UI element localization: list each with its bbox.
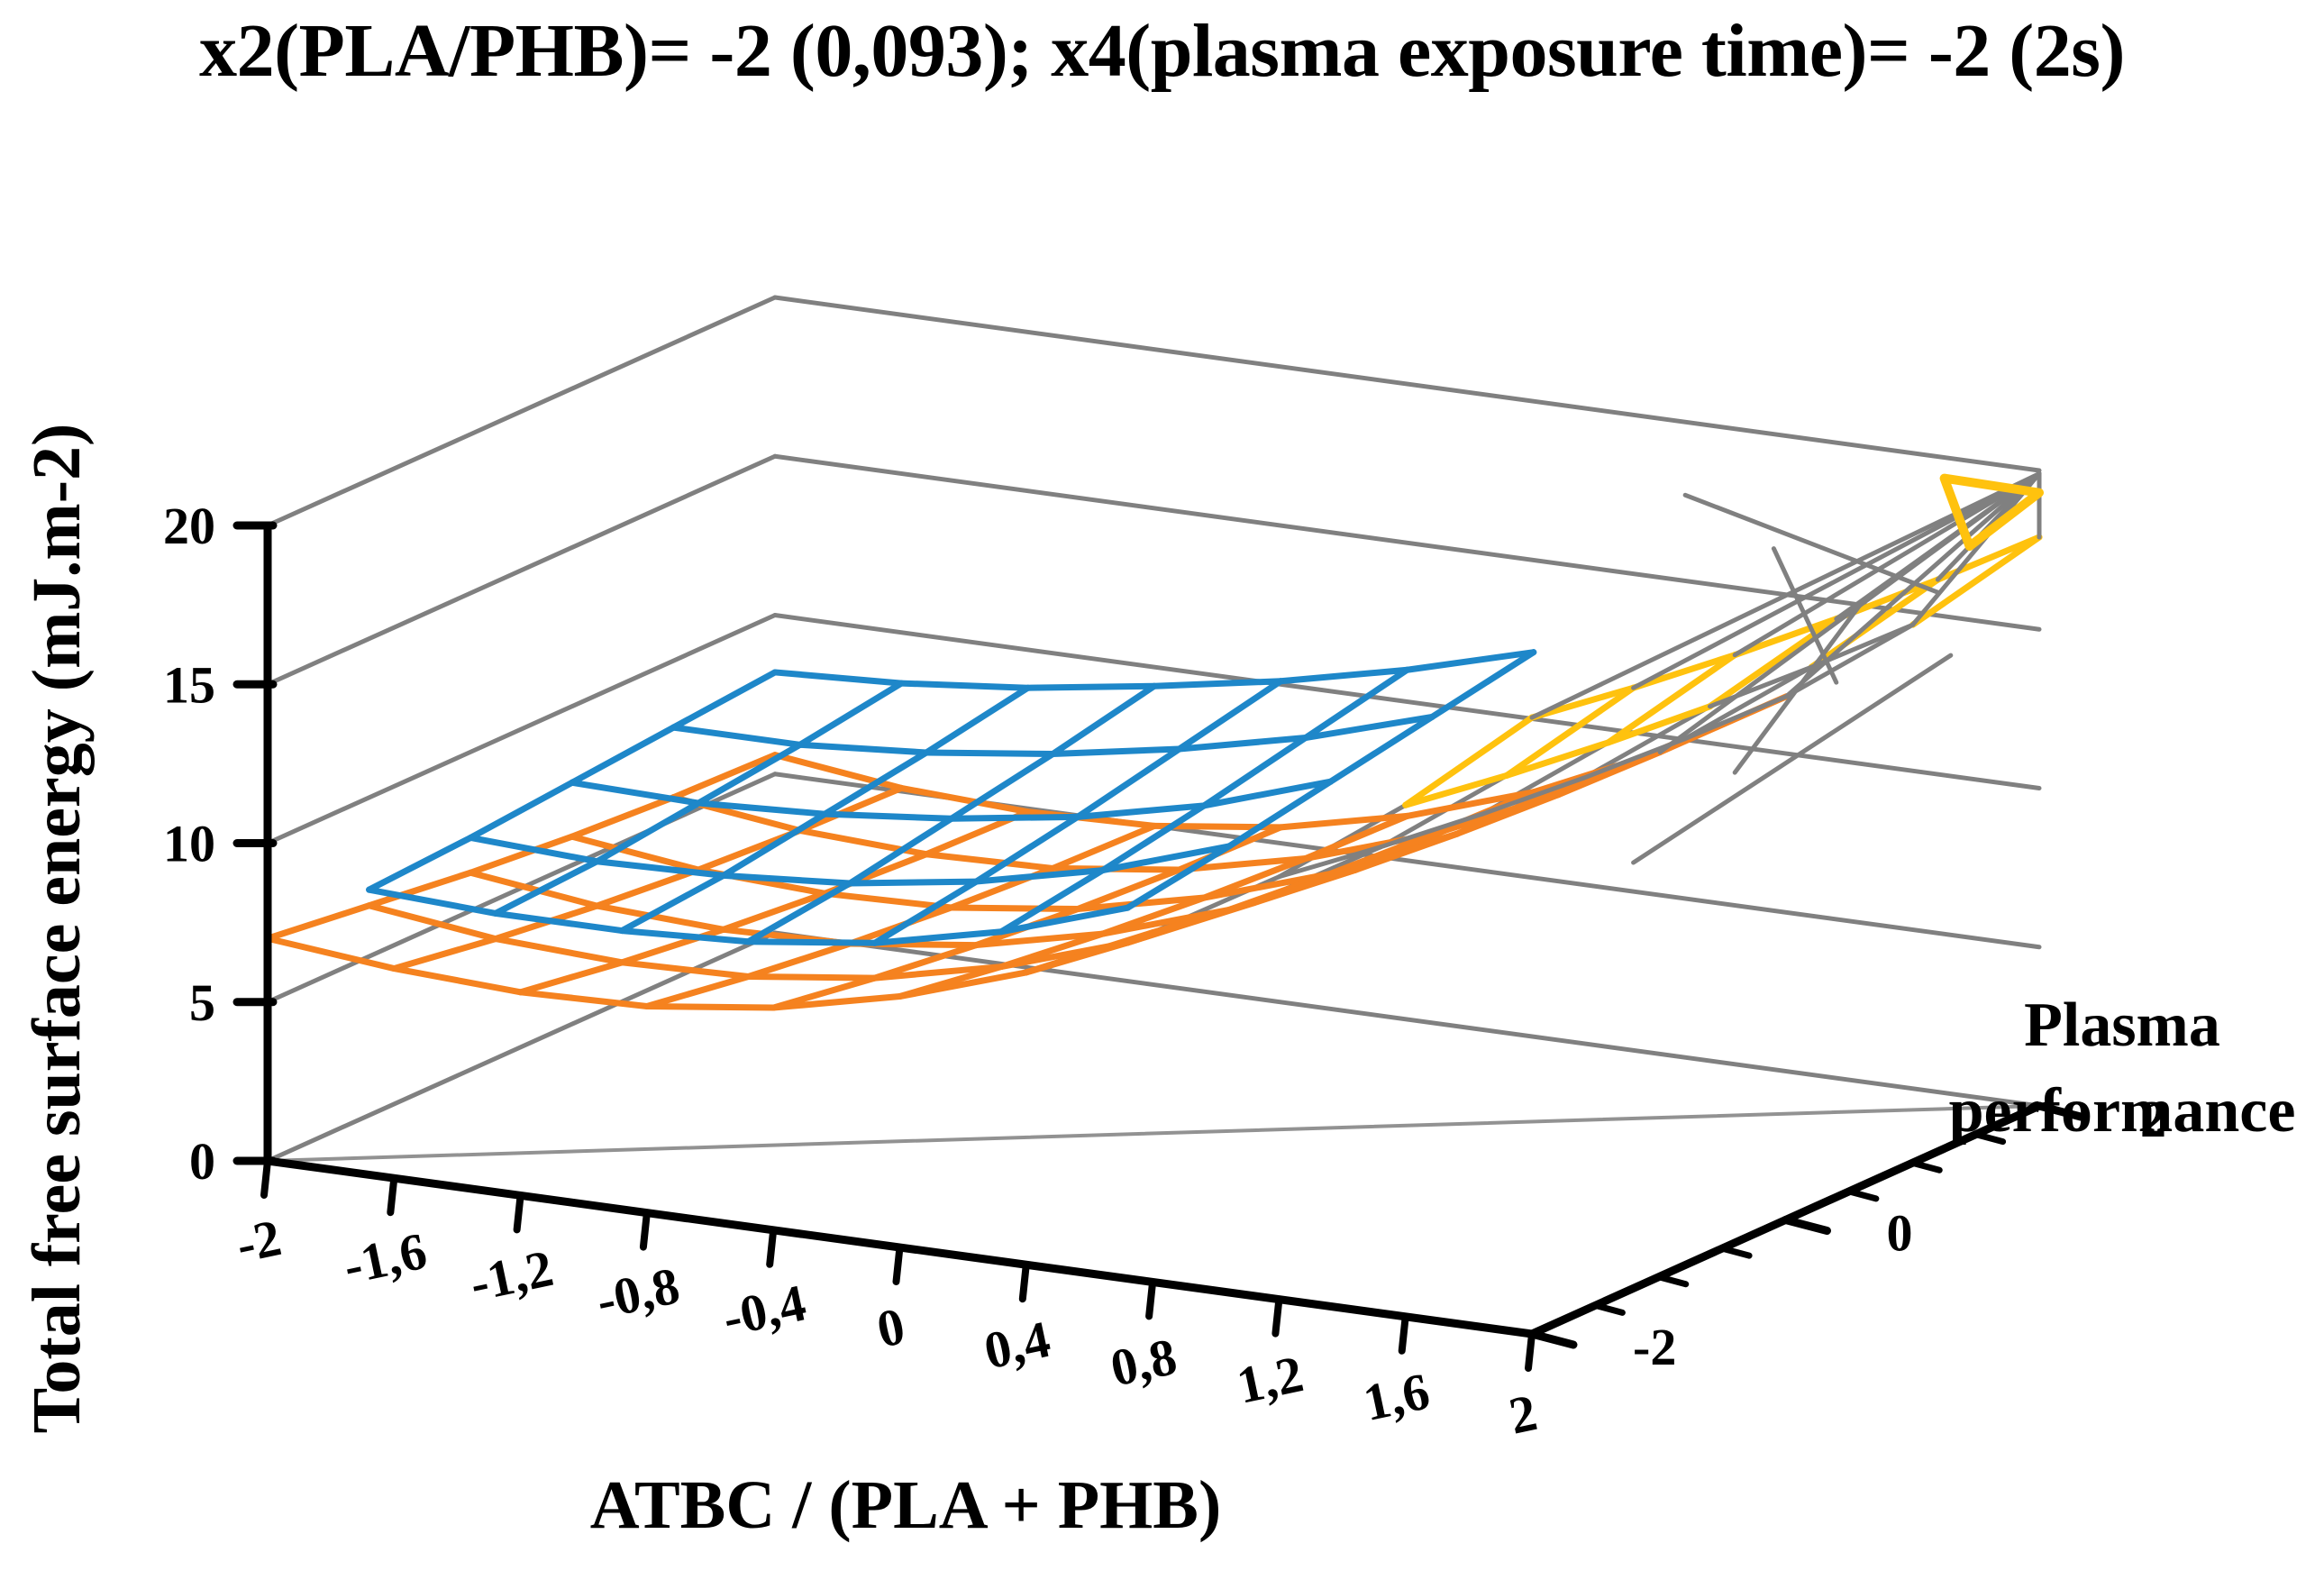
floor-gridlines — [268, 933, 2039, 1161]
svg-text:-1,6: -1,6 — [339, 1221, 432, 1296]
plot-canvas: 05101520-2-1,6-1,2-0,8-0,400,40,81,21,62… — [0, 0, 2324, 1589]
svg-text:20: 20 — [163, 497, 215, 555]
svg-text:-0,8: -0,8 — [591, 1256, 684, 1330]
svg-text:10: 10 — [163, 815, 215, 873]
svg-text:5: 5 — [189, 973, 215, 1032]
svg-text:0: 0 — [872, 1296, 910, 1359]
svg-text:2: 2 — [1504, 1383, 1542, 1446]
svg-text:1,6: 1,6 — [1358, 1361, 1434, 1432]
x-axis-title: ATBC / (PLA + PHB) — [590, 1467, 1222, 1543]
svg-text:-0,4: -0,4 — [717, 1273, 810, 1347]
surface-plot-figure: x2(PLA/PHB)= -2 (0,093); x4(plasma expos… — [0, 0, 2324, 1589]
axis-tick-marks — [237, 525, 2081, 1368]
svg-text:-1,2: -1,2 — [465, 1238, 558, 1313]
svg-text:-2: -2 — [232, 1208, 287, 1274]
svg-text:15: 15 — [163, 655, 215, 714]
y-axis-title-line1: Plasma — [2024, 991, 2220, 1060]
svg-text:1,2: 1,2 — [1232, 1344, 1308, 1415]
surface-mesh — [268, 474, 2039, 1009]
z-axis-title: Total free surface energy (mJ.m-2) — [19, 424, 95, 1434]
svg-text:0: 0 — [189, 1132, 215, 1191]
axis-tick-labels: 05101520-2-1,6-1,2-0,8-0,400,40,81,21,62… — [163, 497, 2166, 1446]
svg-text:0,8: 0,8 — [1106, 1327, 1181, 1398]
y-axis-title-line2: performance — [1949, 1076, 2296, 1146]
svg-text:0,4: 0,4 — [980, 1310, 1055, 1381]
svg-text:-2: -2 — [1633, 1318, 1676, 1376]
svg-text:0: 0 — [1887, 1204, 1913, 1263]
